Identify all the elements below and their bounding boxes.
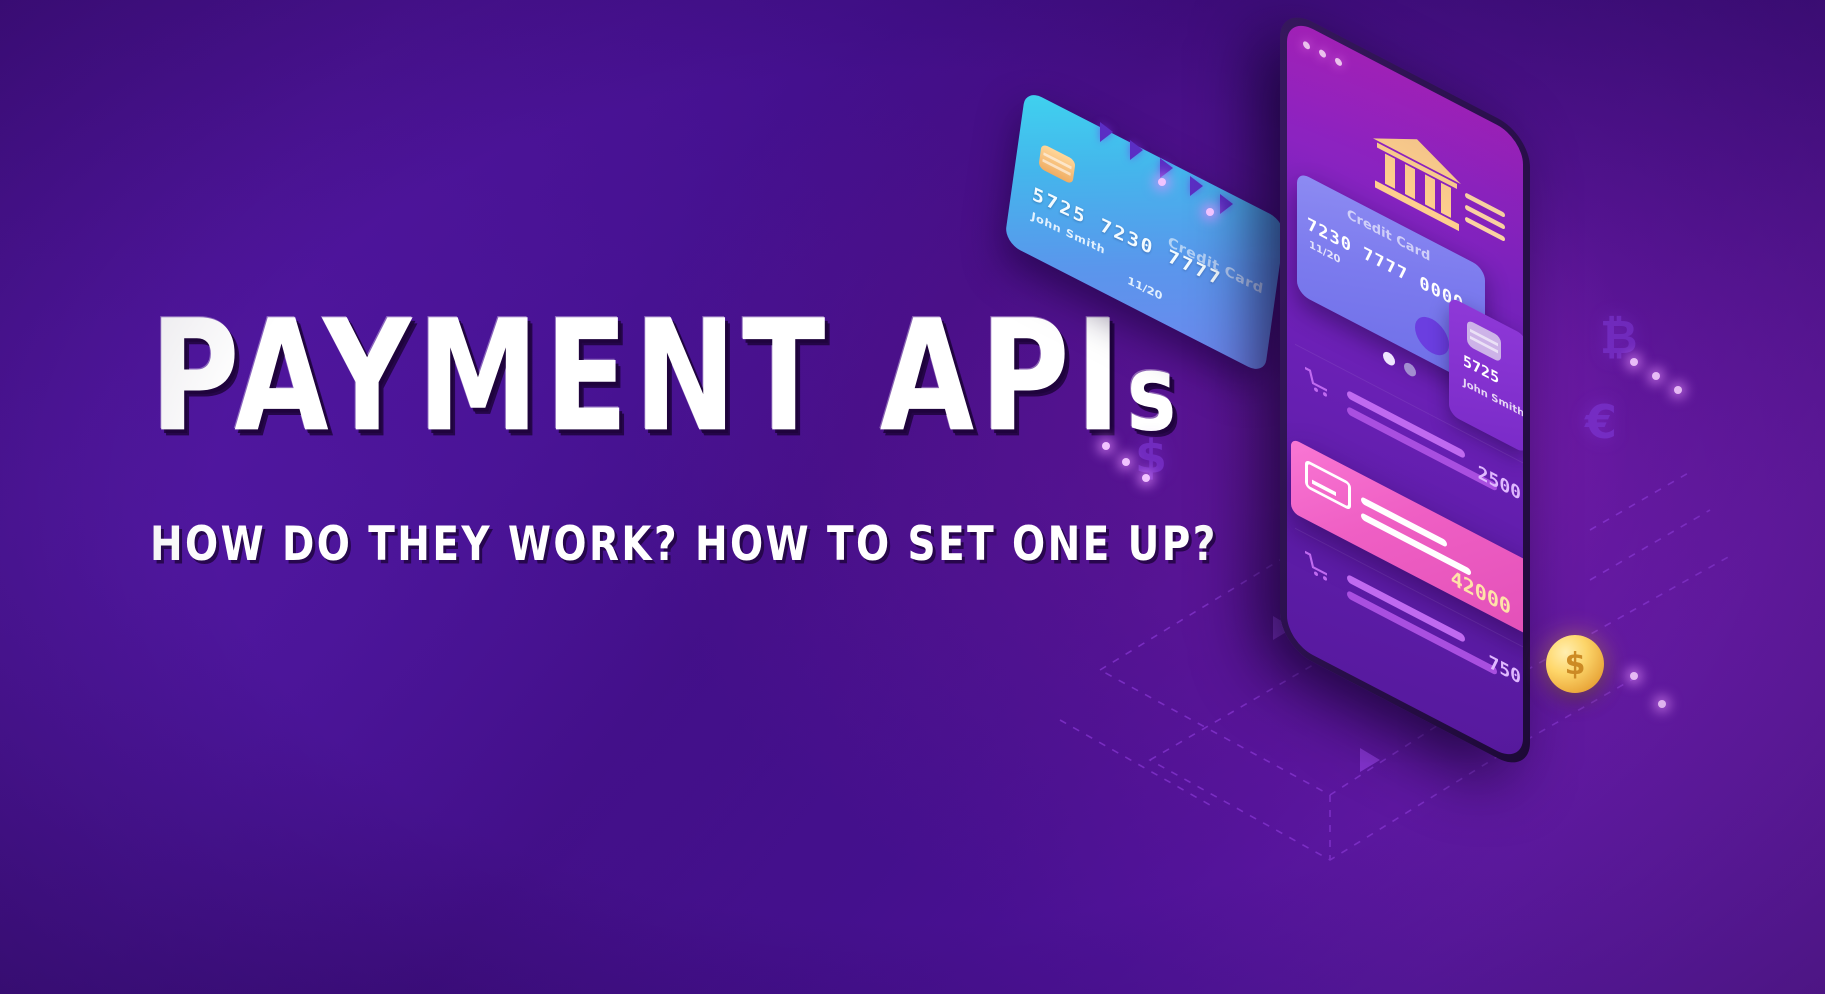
sparkle-dot — [1142, 474, 1150, 482]
credit-card-icon — [1305, 459, 1351, 511]
card-logo-circle — [1415, 310, 1449, 362]
sparkle-dot — [1630, 672, 1638, 680]
carousel-pager[interactable] — [1383, 350, 1416, 379]
gold-coin-icon: $ — [1546, 635, 1604, 693]
flow-arrow-icon — [1100, 122, 1113, 142]
flow-arrow-icon — [1220, 194, 1233, 214]
shopping-cart-icon — [1305, 366, 1331, 400]
card-chip-icon — [1038, 143, 1075, 185]
dollar-symbol-icon: $ — [1135, 430, 1167, 484]
sparkle-dot — [1206, 208, 1214, 216]
sparkle-dot — [1630, 358, 1638, 366]
sparkle-dot — [1652, 372, 1660, 380]
row-bar — [1347, 390, 1465, 459]
page-title-main: PAYMENT API — [150, 287, 1127, 466]
page-title: PAYMENT APIs — [150, 300, 1072, 454]
flow-arrow-icon — [1160, 158, 1173, 178]
flow-arrow-icon — [1190, 176, 1203, 196]
sparkle-dot — [1658, 700, 1666, 708]
payment-illustration: Credit Card 5725 7230 7777 John Smith 11… — [1030, 60, 1810, 960]
blue-card-expiry: 11/20 — [1127, 274, 1164, 303]
euro-symbol-icon: € — [1585, 395, 1617, 449]
sparkle-dot — [1674, 386, 1682, 394]
phone-screen: Credit Card 7230 7777 0000 11/20 5725 Jo… — [1287, 16, 1523, 765]
smartphone-device: Credit Card 7230 7777 0000 11/20 5725 Jo… — [1280, 5, 1530, 775]
bitcoin-symbol-icon: ₿ — [1600, 310, 1638, 364]
hamburger-menu-icon[interactable] — [1465, 192, 1505, 249]
coin-symbol: $ — [1565, 647, 1586, 682]
transaction-amount: 2500 — [1478, 462, 1521, 506]
flow-arrow-icon — [1130, 140, 1143, 160]
page-subtitle: HOW DO THEY WORK? HOW TO SET ONE UP? — [150, 518, 1100, 572]
banner-text-block: PAYMENT APIs HOW DO THEY WORK? HOW TO SE… — [150, 300, 1100, 563]
status-dots — [1303, 40, 1342, 67]
sparkle-dot — [1102, 442, 1110, 450]
payment-apis-banner: PAYMENT APIs HOW DO THEY WORK? HOW TO SE… — [0, 0, 1825, 994]
transaction-amount: 750 — [1488, 651, 1521, 689]
sparkle-dot — [1158, 178, 1166, 186]
shopping-cart-icon — [1305, 550, 1331, 584]
sparkle-dot — [1122, 458, 1130, 466]
